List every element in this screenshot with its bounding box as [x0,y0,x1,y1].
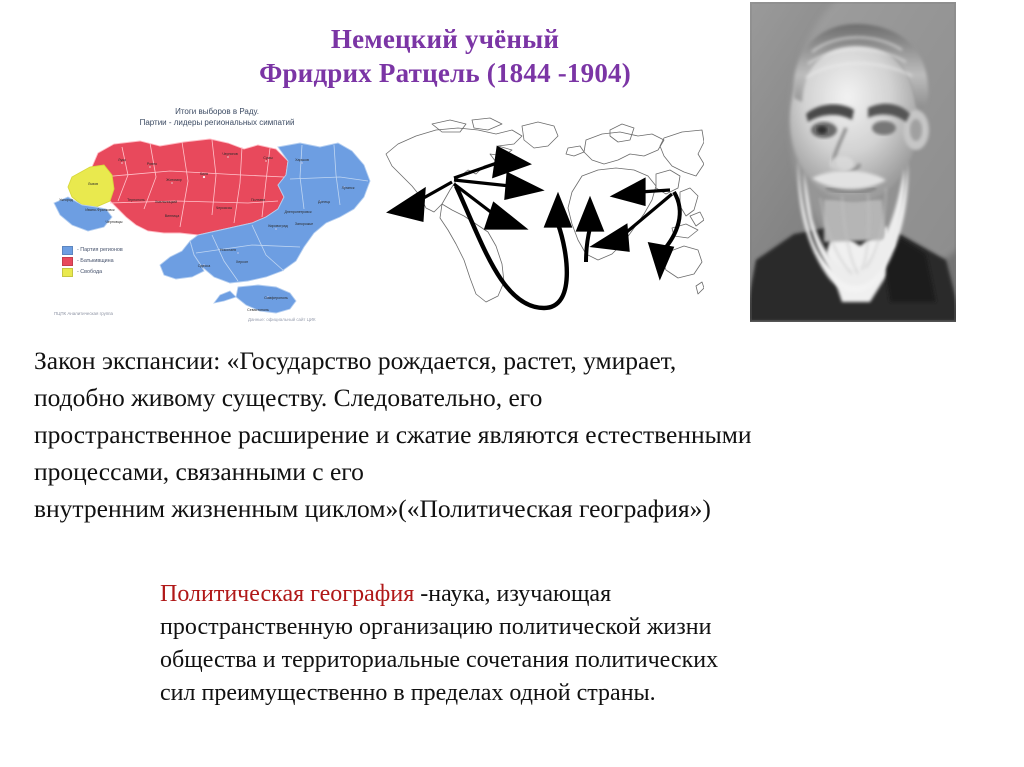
svg-text:Сумы: Сумы [263,156,273,160]
svg-text:Винница: Винница [165,214,179,218]
world-expansion-map [372,112,704,318]
svg-text:Кировоград: Кировоград [268,224,288,228]
svg-text:Житомир: Житомир [166,178,181,182]
svg-text:Хмельницкий: Хмельницкий [155,200,177,204]
portrait-image [750,2,956,322]
portrait-ratzel [750,2,956,322]
quote-line-3: пространственное расширение и сжатие явл… [34,416,1009,453]
svg-text:Чернигов: Чернигов [222,152,238,156]
svg-text:Днепропетровск: Днепропетровск [284,210,311,214]
svg-text:Херсон: Херсон [236,260,248,264]
ukraine-map-legend: - Партия регионов - Батькивщина - Свобод… [62,245,123,278]
ukraine-map-svg: Луцк Ровно Львов Житомир Киев Чернигов С… [52,105,382,333]
legend-item-svoboda: - Свобода [62,267,123,278]
definition-line-3: общества и территориальные сочетания пол… [160,644,1010,677]
legend-swatch-blue [62,246,73,255]
svg-text:Луцк: Луцк [118,158,126,162]
legend-item-party-of-regions: - Партия регионов [62,245,123,256]
svg-text:Ровно: Ровно [147,162,157,166]
ukraine-map-credit-right: Данные: официальный сайт ЦИК [248,317,316,322]
quote-line-4: процессами, связанными с его [34,453,1009,490]
quote-line-1: Закон экспансии: «Государство рождается,… [34,342,1009,379]
world-expansion-map-svg [372,112,704,318]
quote-line-2: подобно живому существу. Следовательно, … [34,379,1009,416]
definition-term: Политическая география [160,581,414,607]
quote-paragraph: Закон экспансии: «Государство рождается,… [34,342,1009,527]
title-line-1: Немецкий учёный [180,22,710,56]
svg-text:Тернополь: Тернополь [127,198,145,202]
definition-line-4: сил преимущественно в пределах одной стр… [160,677,1010,710]
svg-text:Полтава: Полтава [251,198,265,202]
title-line-2: Фридрих Ратцель (1844 -1904) [180,56,710,90]
svg-text:Одесса: Одесса [198,264,210,268]
quote-line-5: внутренним жизненным циклом»(«Политическ… [34,490,1009,527]
legend-item-batkivshchyna: - Батькивщина [62,256,123,267]
svg-text:Луганск: Луганск [342,186,355,190]
ukraine-map-credit-left: ПЦПК Аналитическая группа [54,311,113,317]
svg-text:Севастополь: Севастополь [247,308,269,312]
legend-swatch-yellow [62,268,73,277]
svg-text:Запорожье: Запорожье [295,222,313,226]
svg-text:Черкассы: Черкассы [216,206,233,210]
legend-label-party-of-regions: - Партия регионов [77,245,123,256]
svg-text:Донецк: Донецк [318,200,331,204]
svg-text:Харьков: Харьков [295,158,309,162]
definition-paragraph: Политическая география -наука, изучающая… [160,578,1010,710]
svg-text:Ивано-Франковск: Ивано-Франковск [85,208,115,212]
svg-text:Ужгород: Ужгород [59,198,74,202]
legend-label-svoboda: - Свобода [77,267,102,278]
ukraine-election-map: Итоги выборов в Раду. Партии - лидеры ре… [52,105,382,333]
definition-line-1: Политическая география -наука, изучающая [160,578,1010,611]
svg-text:Черновцы: Черновцы [106,220,123,224]
svg-text:Киев: Киев [200,172,208,176]
svg-text:Симферополь: Симферополь [264,296,288,300]
page-title: Немецкий учёный Фридрих Ратцель (1844 -1… [180,22,710,90]
svg-text:Львов: Львов [88,182,98,186]
legend-swatch-red [62,257,73,266]
svg-text:Николаев: Николаев [220,248,236,252]
definition-line-1-rest: -наука, изучающая [414,581,611,607]
legend-label-batkivshchyna: - Батькивщина [77,256,114,267]
slide-root: Немецкий учёный Фридрих Ратцель (1844 -1… [0,0,1024,767]
definition-line-2: пространственную организацию политическо… [160,611,1010,644]
